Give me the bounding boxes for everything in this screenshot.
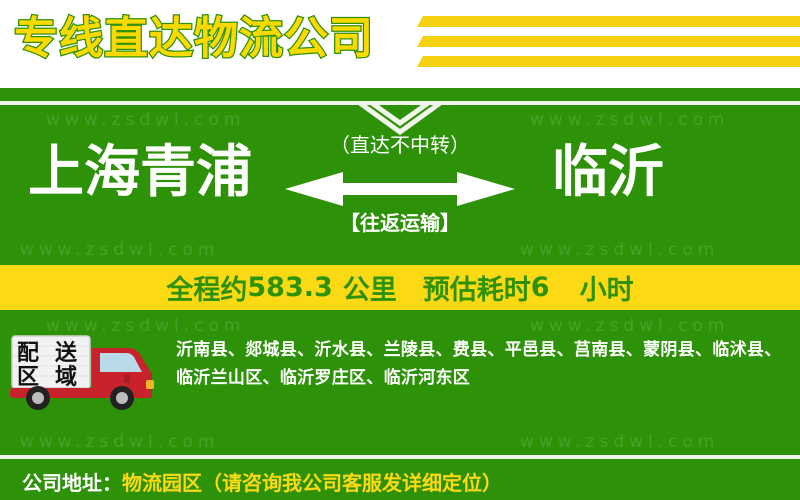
address-label: 公司地址： bbox=[22, 467, 122, 496]
duration-label: 预估耗时 bbox=[423, 268, 531, 307]
watermark-text: www.zsdwl.com bbox=[530, 316, 729, 336]
stripe-1 bbox=[417, 16, 800, 27]
decorative-stripes bbox=[420, 14, 800, 74]
watermark-text: www.zsdwl.com bbox=[20, 432, 219, 452]
delivery-truck-icon: 配 送 区 域 bbox=[4, 330, 164, 412]
watermark-text: www.zsdwl.com bbox=[520, 432, 719, 452]
duration-value: 6 bbox=[531, 272, 550, 303]
duration-unit: 小时 bbox=[580, 268, 634, 307]
distance-label: 全程约 bbox=[166, 268, 247, 307]
double-arrow-icon bbox=[285, 170, 515, 210]
svg-text:域: 域 bbox=[55, 364, 77, 390]
poster-footer: 公司地址： 物流园区（请咨询我公司客服发详细定位） bbox=[0, 462, 800, 500]
logistics-poster: www.zsdwl.com www.zsdwl.com www.zsdwl.co… bbox=[0, 0, 800, 500]
svg-text:配: 配 bbox=[17, 341, 39, 366]
bottom-divider bbox=[0, 455, 800, 459]
chevron-down-icon bbox=[355, 98, 445, 144]
destination-city: 临沂 bbox=[552, 130, 664, 216]
distance-unit: 公里 bbox=[343, 268, 397, 307]
stripe-3 bbox=[417, 56, 800, 67]
page-title: 专线直达物流公司 bbox=[14, 8, 374, 70]
route-note-bottom: 【往返运输】 bbox=[280, 210, 520, 236]
origin-city: 上海青浦 bbox=[28, 130, 252, 216]
metrics-band: 全程约 583.3 公里 预估耗时 6 小时 bbox=[0, 265, 800, 310]
distance-value: 583.3 bbox=[247, 272, 332, 303]
delivery-areas-text: 沂南县、郯城县、沂水县、兰陵县、费县、平邑县、莒南县、蒙阴县、临沭县、临沂兰山区… bbox=[176, 336, 786, 392]
stripe-2 bbox=[417, 36, 800, 47]
address-value: 物流园区（请咨询我公司客服发详细定位） bbox=[122, 467, 502, 496]
poster-header: 专线直达物流公司 bbox=[0, 0, 800, 88]
svg-text:送: 送 bbox=[55, 340, 77, 366]
